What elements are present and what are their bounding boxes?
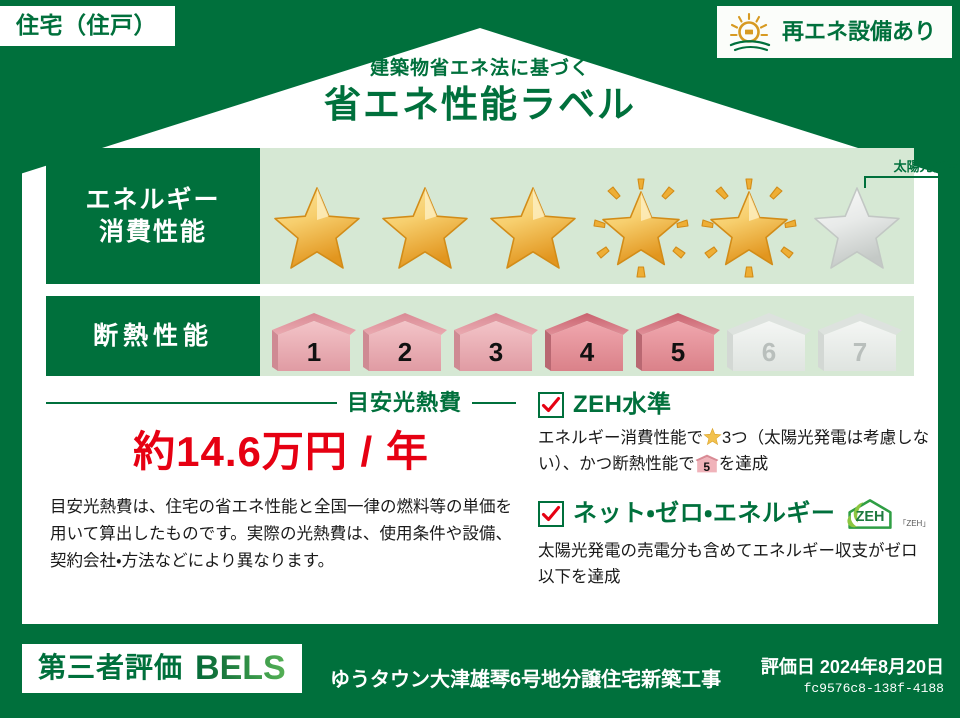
bels-plate: 第三者評価 BELS [22, 644, 302, 693]
zeh-standard-heading: ZEH水準 [538, 392, 930, 418]
star-rating-2 [373, 178, 477, 278]
evaluation-date: 評価日 2024年8月20日 [761, 658, 944, 678]
label-subtitle: 建築物省エネ法に基づく [0, 58, 960, 80]
insulation-house-7-empty: 7 [816, 311, 904, 373]
svg-text:ZEH: ZEH [856, 509, 885, 525]
insulation-label-text: 断熱性能 [93, 320, 213, 353]
insulation-house-7-number: 7 [816, 339, 904, 365]
insulation-house-5: 5 [634, 311, 722, 373]
zeh-desc-part3: を達成 [719, 455, 769, 473]
insulation-house-4: 4 [543, 311, 631, 373]
renewable-energy-badge-label: 再エネ設備あり [782, 21, 936, 43]
star-rating-6-empty [805, 178, 909, 278]
star-rating-1 [265, 178, 369, 278]
energy-cost-note: 目安光熱費は、住宅の省エネ性能と全国一律の燃料等の単価を用いて算出したものです。… [46, 494, 516, 574]
evaluation-info: 評価日 2024年8月20日 fc9576c8-138f-4188 [761, 658, 944, 696]
insulation-house-strip: 1 2 [260, 307, 914, 373]
zeh-house-logo-icon: ZEH [844, 497, 896, 531]
net-zero-energy-checkbox[interactable] [538, 501, 564, 527]
check-icon [541, 504, 561, 524]
zeh-section: ZEH水準 エネルギー消費性能で3つ（太陽光発電は考慮しない）、かつ断熱性能で5… [516, 392, 930, 591]
energy-cost-value: 約14.6万円 / 年 [46, 428, 516, 476]
energy-label-line2: 消費性能 [99, 216, 207, 249]
category-tab-label: 住宅（住戸） [16, 14, 157, 37]
renewable-energy-badge: 再エネ設備あり [717, 6, 952, 58]
insulation-house-1-number: 1 [270, 339, 358, 365]
insulation-rating-panel: 1 2 [260, 296, 914, 376]
net-zero-energy-title: ネット・ゼロ・エネルギー [573, 502, 835, 526]
zeh-standard-description: エネルギー消費性能で3つ（太陽光発電は考慮しない）、かつ断熱性能で5を達成 [538, 425, 930, 478]
cost-heading-rule-left [46, 402, 337, 404]
net-zero-energy-heading: ネット・ゼロ・エネルギー ZEH 「ZEH」 [538, 497, 930, 531]
zeh-desc-part1: エネルギー消費性能で [538, 429, 703, 447]
zeh-logo-caption: 「ZEH」 [898, 520, 930, 531]
bels-logo-mark: BELS [195, 651, 286, 685]
net-zero-energy-item: ネット・ゼロ・エネルギー ZEH 「ZEH」 太陽光発電の売電分も含めてエネルギ… [538, 497, 930, 591]
insulation-house-5-number: 5 [634, 339, 722, 365]
energy-performance-label: 住宅（住戸） 再エネ設備あり 建築物省エネ法に基づく 省エネ性能ラベル [0, 0, 960, 718]
third-party-evaluation-label: 第三者評価 [38, 654, 183, 682]
star-rating-strip [260, 176, 914, 280]
insulation-house-3-number: 3 [452, 339, 540, 365]
energy-rating-panel: 太陽光発電(自家消費)分 [260, 148, 914, 284]
performance-rows: エネルギー 消費性能 太陽光発電(自家消費)分 [46, 148, 914, 376]
sun-solar-icon [727, 12, 773, 52]
insulation-grade-number: 5 [695, 461, 719, 473]
net-zero-energy-description: 太陽光発電の売電分も含めてエネルギー収支がゼロ以下を達成 [538, 538, 930, 591]
insulation-house-1: 1 [270, 311, 358, 373]
label-footer: 第三者評価 BELS ゆうタウン大津雄琴6号地分譲住宅新築工事 評価日 2024… [0, 632, 960, 718]
zeh-standard-title: ZEH水準 [573, 393, 672, 417]
cost-heading-rule-right [472, 402, 516, 404]
energy-cost-section: 目安光熱費 約14.6万円 / 年 目安光熱費は、住宅の省エネ性能と全国一律の燃… [46, 392, 516, 591]
insulation-house-4-number: 4 [543, 339, 631, 365]
insulation-house-2: 2 [361, 311, 449, 373]
label-main-title: 省エネ性能ラベル [0, 83, 960, 127]
insulation-house-6-empty: 6 [725, 311, 813, 373]
star-icon [703, 427, 722, 446]
zeh-logo: ZEH 「ZEH」 [844, 497, 930, 531]
solar-bracket-label: 太陽光発電(自家消費)分 [864, 160, 960, 173]
energy-cost-heading-label: 目安光熱費 [347, 392, 462, 414]
insulation-house-6-number: 6 [725, 339, 813, 365]
star-rating-3 [481, 178, 585, 278]
zeh-standard-item: ZEH水準 エネルギー消費性能で3つ（太陽光発電は考慮しない）、かつ断熱性能で5… [538, 392, 930, 478]
insulation-performance-label: 断熱性能 [46, 296, 260, 376]
lower-content: 目安光熱費 約14.6万円 / 年 目安光熱費は、住宅の省エネ性能と全国一律の燃… [46, 392, 914, 591]
energy-performance-label: エネルギー 消費性能 [46, 148, 260, 284]
energy-label-line1: エネルギー [85, 184, 220, 217]
insulation-house-3: 3 [452, 311, 540, 373]
insulation-performance-row: 断熱性能 [46, 296, 914, 376]
check-icon [541, 395, 561, 415]
energy-performance-row: エネルギー 消費性能 太陽光発電(自家消費)分 [46, 148, 914, 284]
energy-cost-heading: 目安光熱費 [46, 392, 516, 414]
project-name: ゆうタウン大津雄琴6号地分譲住宅新築工事 [330, 670, 721, 690]
evaluation-id: fc9576c8-138f-4188 [761, 682, 944, 696]
zeh-standard-checkbox[interactable] [538, 392, 564, 418]
label-title-block: 建築物省エネ法に基づく 省エネ性能ラベル [0, 58, 960, 127]
insulation-grade-icon: 5 [695, 454, 719, 473]
insulation-house-2-number: 2 [361, 339, 449, 365]
category-tab: 住宅（住戸） [0, 6, 175, 46]
star-rating-4-solar [589, 178, 693, 278]
star-rating-5-solar [697, 178, 801, 278]
